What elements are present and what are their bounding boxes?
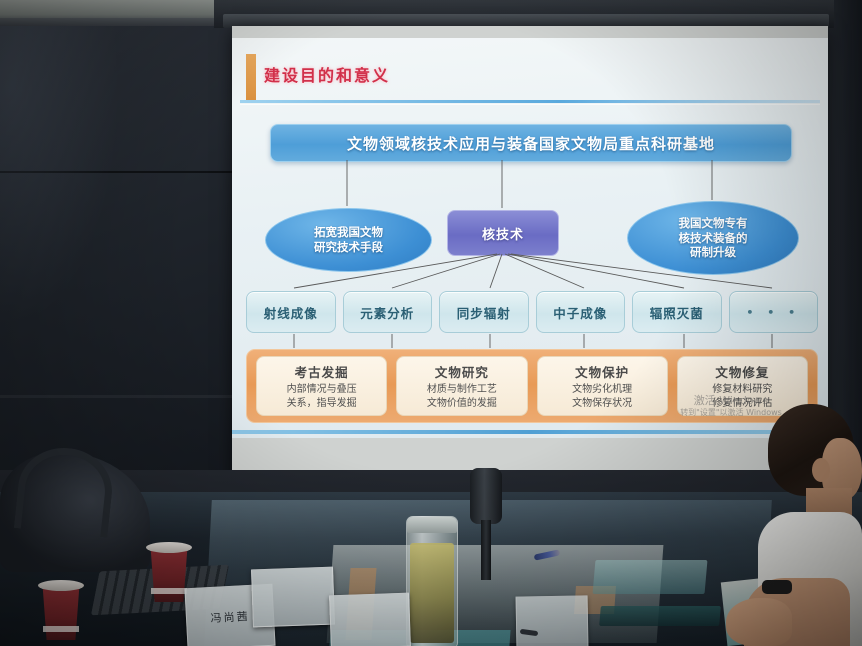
application-heading: 文物修复 bbox=[715, 362, 769, 381]
application-card: 考古发掘 内部情况与叠压 关系，指导发掘 bbox=[256, 356, 387, 416]
technique-chip-row: 射线成像 元素分析 同步辐射 中子成像 辐照灭菌 • • • bbox=[246, 291, 818, 333]
paper-cup-band bbox=[43, 626, 79, 632]
name-placard-label bbox=[253, 596, 333, 599]
application-line-1: 文物劣化机理 bbox=[572, 383, 632, 397]
tea-leaves bbox=[410, 543, 454, 643]
conference-room-scene: 建设目的和意义 文物领域核技术应用与装备国家文物局重点科研基地 拓宽我国文物研究… bbox=[0, 0, 862, 646]
application-band: 考古发掘 内部情况与叠压 关系，指导发掘 文物研究 材质与制作工艺 文物价值的发… bbox=[246, 349, 818, 423]
presentation-slide: 建设目的和意义 文物领域核技术应用与装备国家文物局重点科研基地 拓宽我国文物研究… bbox=[232, 38, 828, 438]
application-line-1: 内部情况与叠压 bbox=[287, 383, 357, 397]
microphone-head bbox=[470, 468, 502, 524]
name-placard bbox=[251, 567, 335, 628]
application-heading: 文物研究 bbox=[435, 362, 489, 381]
application-line-1: 材质与制作工艺 bbox=[427, 383, 497, 397]
paper-cup-band bbox=[151, 588, 187, 594]
wall-light-glow bbox=[0, 26, 120, 326]
notebook-lower bbox=[599, 606, 721, 626]
technique-chip: 中子成像 bbox=[536, 291, 626, 333]
application-line-1: 修复材料研究 bbox=[712, 383, 772, 397]
microphone-stem bbox=[481, 520, 491, 580]
application-heading: 文物保护 bbox=[575, 362, 629, 381]
application-line-2: 文物价值的发掘 bbox=[427, 397, 497, 411]
application-heading: 考古发掘 bbox=[295, 362, 349, 381]
name-placard-label bbox=[331, 620, 409, 623]
slide-bottom-divider bbox=[232, 430, 828, 434]
notebook bbox=[593, 560, 708, 594]
technique-chip-ellipsis: • • • bbox=[729, 291, 819, 333]
paper-cup-rim bbox=[38, 580, 84, 591]
attendee-watch bbox=[762, 580, 792, 594]
application-card: 文物研究 材质与制作工艺 文物价值的发掘 bbox=[396, 356, 527, 416]
technique-chip: 射线成像 bbox=[246, 291, 336, 333]
technique-chip: 同步辐射 bbox=[439, 291, 529, 333]
application-card: 文物保护 文物劣化机理 文物保存状况 bbox=[537, 356, 668, 416]
technique-chip: 元素分析 bbox=[343, 291, 433, 333]
projection-screen: 建设目的和意义 文物领域核技术应用与装备国家文物局重点科研基地 拓宽我国文物研究… bbox=[232, 26, 828, 481]
wall-seam bbox=[0, 395, 240, 398]
tea-thermos bbox=[406, 516, 458, 646]
technique-chip: 辐照灭菌 bbox=[632, 291, 722, 333]
attendee-ear bbox=[812, 458, 830, 482]
name-placard-label bbox=[517, 621, 587, 622]
paper-cup-rim bbox=[146, 542, 192, 553]
name-placard bbox=[516, 595, 589, 646]
attendee-hand bbox=[726, 598, 792, 646]
attendee bbox=[740, 404, 862, 646]
name-placard bbox=[329, 593, 411, 646]
thermos-lid bbox=[407, 517, 457, 533]
paper-cup-near bbox=[38, 576, 84, 640]
application-line-2: 文物保存状况 bbox=[572, 397, 632, 411]
microphone bbox=[470, 468, 502, 580]
application-line-2: 关系，指导发掘 bbox=[287, 397, 357, 411]
